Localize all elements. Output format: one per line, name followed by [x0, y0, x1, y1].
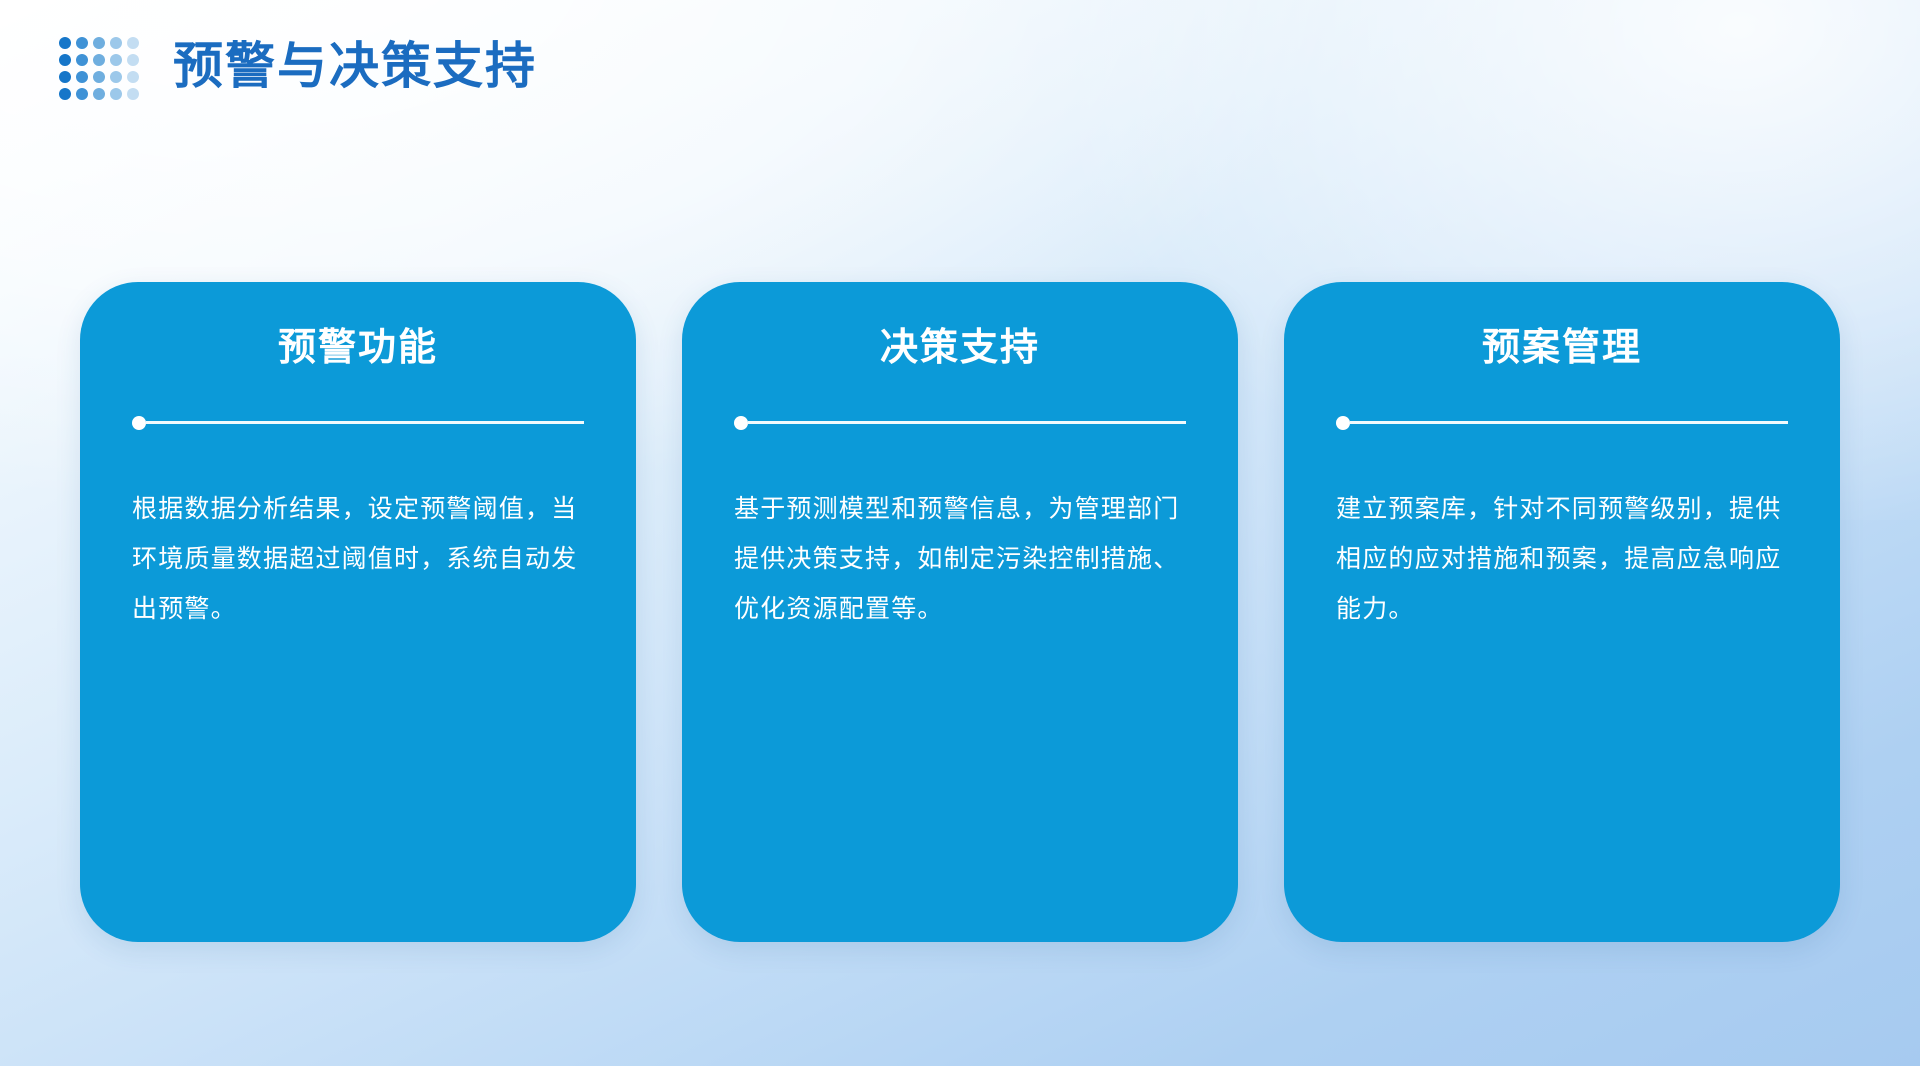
card-title: 预警功能	[278, 326, 438, 372]
card-warning-function[interactable]: 预警功能 根据数据分析结果，设定预警阈值，当环境质量数据超过阈值时，系统自动发出…	[80, 282, 636, 942]
page-title: 预警与决策支持	[173, 41, 537, 91]
divider-line	[146, 421, 584, 424]
card-title: 预案管理	[1482, 326, 1642, 372]
card-body-text: 根据数据分析结果，设定预警阈值，当环境质量数据超过阈值时，系统自动发出预警。	[132, 484, 584, 634]
divider-line	[1350, 421, 1788, 424]
divider-line	[748, 421, 1186, 424]
card-decision-support[interactable]: 决策支持 基于预测模型和预警信息，为管理部门提供决策支持，如制定污染控制措施、优…	[682, 282, 1238, 942]
divider-dot-icon	[132, 416, 146, 430]
card-body-text: 建立预案库，针对不同预警级别，提供相应的应对措施和预案，提高应急响应能力。	[1336, 484, 1788, 634]
bottom-strip	[0, 1066, 1920, 1080]
card-body-text: 基于预测模型和预警信息，为管理部门提供决策支持，如制定污染控制措施、优化资源配置…	[734, 484, 1186, 634]
dot-grid-icon	[56, 34, 141, 102]
cards-row: 预警功能 根据数据分析结果，设定预警阈值，当环境质量数据超过阈值时，系统自动发出…	[0, 282, 1920, 942]
divider-dot-icon	[1336, 416, 1350, 430]
card-divider	[734, 414, 1186, 432]
card-divider	[1336, 414, 1788, 432]
card-title: 决策支持	[880, 326, 1040, 372]
card-divider	[132, 414, 584, 432]
slide: 预警与决策支持 预警功能 根据数据分析结果，设定预警阈值，当环境质量数据超过阈值…	[0, 0, 1920, 1080]
card-plan-management[interactable]: 预案管理 建立预案库，针对不同预警级别，提供相应的应对措施和预案，提高应急响应能…	[1284, 282, 1840, 942]
slide-header: 预警与决策支持	[56, 30, 537, 102]
divider-dot-icon	[734, 416, 748, 430]
